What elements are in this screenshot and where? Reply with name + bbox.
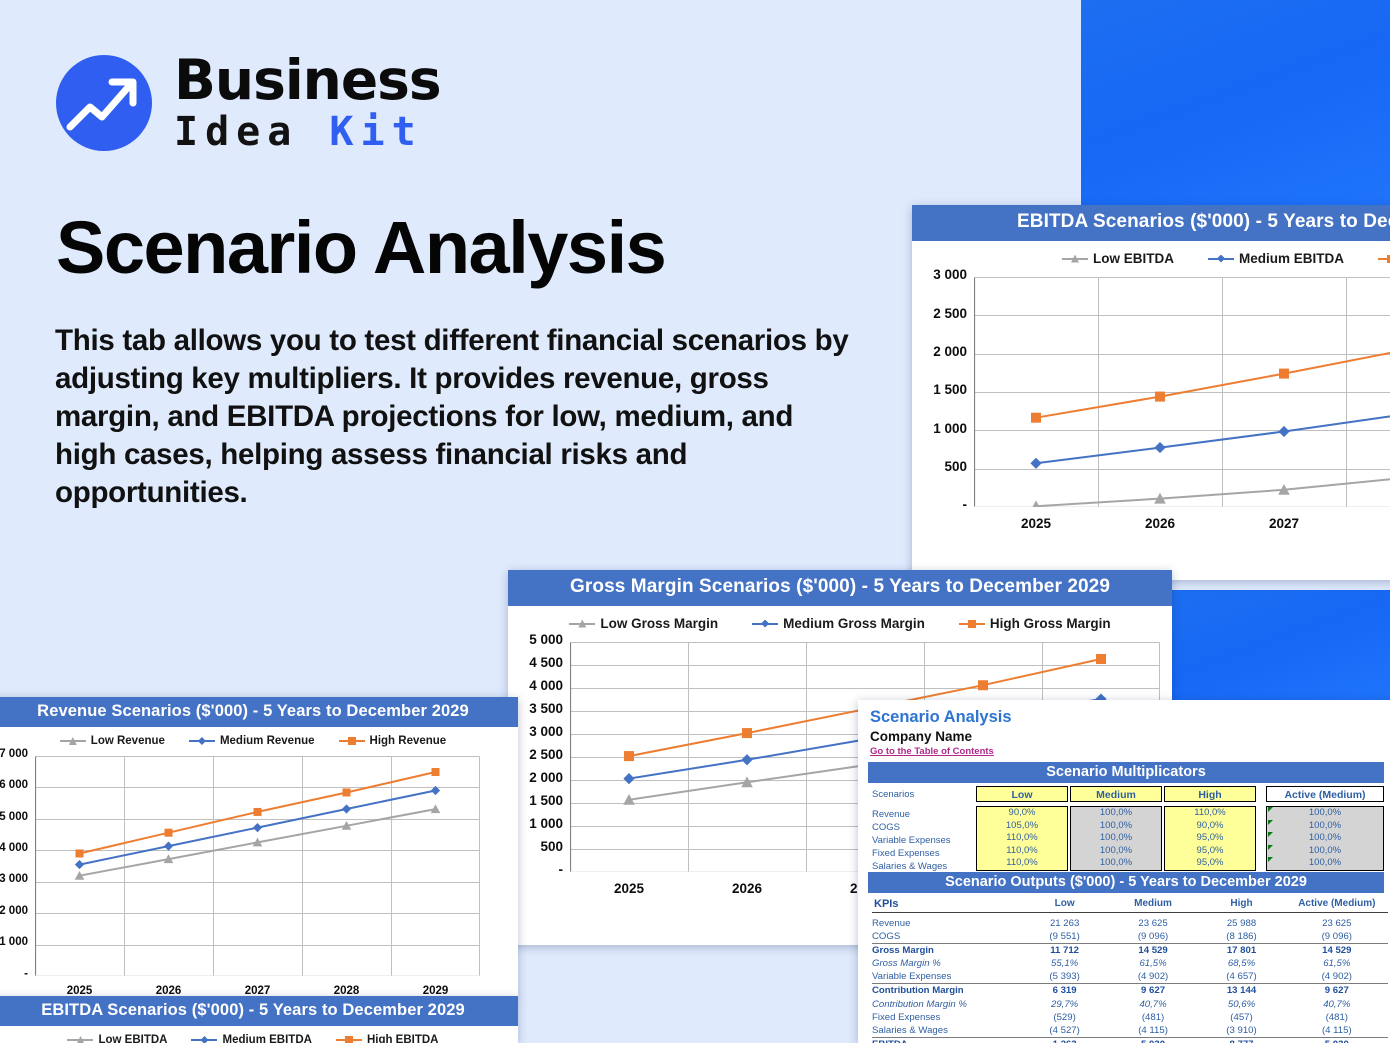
decorative-blue-block-top bbox=[1081, 0, 1390, 205]
outputs-cell: 40,7% bbox=[1109, 998, 1198, 1011]
outputs-table-row: EBITDA1 2635 0308 7775 030 bbox=[872, 1037, 1388, 1043]
legend-label: High Gross Margin bbox=[990, 616, 1111, 631]
x-axis-tick-label: 2027 bbox=[1249, 516, 1319, 531]
outputs-cell: 29,7% bbox=[1021, 998, 1109, 1011]
y-axis-tick-label: 4 000 bbox=[508, 678, 563, 693]
legend-item-medium-gross-margin[interactable]: Medium Gross Margin bbox=[752, 616, 925, 631]
x-axis-tick-label: 2026 bbox=[712, 881, 782, 896]
legend-marker-triangle-icon bbox=[1062, 254, 1088, 264]
outputs-cell: (9 096) bbox=[1109, 930, 1198, 944]
outputs-row-label: COGS bbox=[872, 930, 1021, 944]
outputs-row-label: Contribution Margin % bbox=[872, 998, 1021, 1011]
outputs-cell: (4 902) bbox=[1286, 970, 1388, 984]
outputs-cell: 55,1% bbox=[1021, 957, 1109, 970]
y-axis-tick-label: 2 500 bbox=[912, 306, 967, 321]
y-axis-tick-label: 7 000 bbox=[0, 748, 28, 760]
outputs-column-header: KPIs bbox=[872, 896, 1021, 913]
chart-card-revenue: Revenue Scenarios ($'000) - 5 Years to D… bbox=[0, 697, 518, 997]
legend-item-low-ebitda[interactable]: Low EBITDA bbox=[1062, 251, 1174, 266]
outputs-cell: 13 144 bbox=[1197, 984, 1285, 998]
multiplicator-cell[interactable]: 90,0% bbox=[1165, 820, 1255, 833]
legend-item-medium-revenue[interactable]: Medium Revenue bbox=[189, 735, 315, 747]
legend-label: Low Revenue bbox=[91, 735, 165, 747]
outputs-cell: 14 529 bbox=[1286, 944, 1388, 958]
legend-marker-triangle-icon bbox=[67, 1035, 93, 1043]
scenario-multiplicators-band: Scenario Multiplicators bbox=[868, 762, 1384, 783]
multiplicators-row-label: Variable Expenses bbox=[872, 834, 977, 847]
outputs-cell: (4 902) bbox=[1109, 970, 1198, 984]
column-header-medium: Medium bbox=[1070, 786, 1162, 802]
outputs-table-row: Salaries & Wages(4 527)(4 115)(3 910)(4 … bbox=[872, 1024, 1388, 1038]
legend-label: Medium EBITDA bbox=[1239, 251, 1344, 266]
outputs-table-row: Contribution Margin %29,7%40,7%50,6%40,7… bbox=[872, 998, 1388, 1011]
legend-marker-triangle-icon bbox=[569, 619, 595, 629]
chart-title-ebitda: EBITDA Scenarios ($'000) - 5 Years to De… bbox=[912, 205, 1390, 241]
outputs-cell: 17 801 bbox=[1197, 944, 1285, 958]
y-axis-tick-label: 2 000 bbox=[0, 905, 28, 917]
brand-name-kit: Kit bbox=[329, 109, 422, 155]
y-axis-tick-label: 3 000 bbox=[912, 267, 967, 282]
outputs-cell: 23 625 bbox=[1109, 917, 1198, 930]
legend-marker-square-icon bbox=[1378, 254, 1390, 264]
outputs-cell: 5 030 bbox=[1109, 1037, 1198, 1043]
outputs-cell: 25 988 bbox=[1197, 917, 1285, 930]
outputs-table-row: Variable Expenses(5 393)(4 902)(4 657)(4… bbox=[872, 970, 1388, 984]
outputs-table-row: Contribution Margin6 3199 62713 1449 627 bbox=[872, 984, 1388, 998]
y-axis-tick-label: 500 bbox=[912, 459, 967, 474]
column-header-high: High bbox=[1164, 786, 1256, 802]
column-header-low: Low bbox=[976, 786, 1068, 802]
x-axis-tick-label: 2026 bbox=[1125, 516, 1195, 531]
outputs-cell: (4 115) bbox=[1109, 1024, 1198, 1038]
multiplicator-cell[interactable]: 90,0% bbox=[977, 807, 1067, 820]
legend-item-medium-ebitda-strip[interactable]: Medium EBITDA bbox=[191, 1034, 311, 1043]
legend-marker-square-icon bbox=[336, 1035, 362, 1043]
chart-plot-revenue bbox=[35, 756, 480, 976]
y-axis-tick-label: - bbox=[912, 497, 967, 512]
outputs-row-label: Gross Margin % bbox=[872, 957, 1021, 970]
scenario-outputs-table: KPIsLowMediumHighActive (Medium)Revenue2… bbox=[872, 896, 1388, 1043]
outputs-table-row: Gross Margin11 71214 52917 80114 529 bbox=[872, 944, 1388, 958]
outputs-cell: 9 627 bbox=[1109, 984, 1198, 998]
outputs-cell: 14 529 bbox=[1109, 944, 1198, 958]
multiplicator-cell[interactable]: 110,0% bbox=[977, 845, 1067, 858]
multiplicator-cell[interactable]: 100,0% bbox=[1071, 845, 1161, 858]
outputs-cell: 68,5% bbox=[1197, 957, 1285, 970]
outputs-cell: 5 030 bbox=[1286, 1037, 1388, 1043]
legend-marker-diamond-icon bbox=[191, 1035, 217, 1043]
outputs-cell: (481) bbox=[1109, 1011, 1198, 1024]
outputs-row-label: Gross Margin bbox=[872, 944, 1021, 958]
chart-title-revenue: Revenue Scenarios ($'000) - 5 Years to D… bbox=[0, 697, 518, 727]
chart-title-ebitda-strip: EBITDA Scenarios ($'000) - 5 Years to De… bbox=[0, 996, 518, 1026]
brand-name-idea: Idea bbox=[174, 109, 298, 155]
multiplicators-column-active: Active (Medium) 100,0% 100,0% 100,0% 100… bbox=[1266, 786, 1384, 871]
legend-item-low-ebitda-strip[interactable]: Low EBITDA bbox=[67, 1034, 167, 1043]
multiplicator-cell[interactable]: 100,0% bbox=[1071, 832, 1161, 845]
outputs-cell: (8 186) bbox=[1197, 930, 1285, 944]
outputs-cell: (457) bbox=[1197, 1011, 1285, 1024]
outputs-cell: (9 551) bbox=[1021, 930, 1109, 944]
legend-label: Low Gross Margin bbox=[600, 616, 718, 631]
y-axis-tick-label: 1 000 bbox=[0, 936, 28, 948]
legend-item-medium-ebitda[interactable]: Medium EBITDA bbox=[1208, 251, 1344, 266]
outputs-row-label: Contribution Margin bbox=[872, 984, 1021, 998]
outputs-cell: 21 263 bbox=[1021, 917, 1109, 930]
multiplicators-row-label: COGS bbox=[872, 821, 977, 834]
outputs-column-header: Low bbox=[1021, 896, 1109, 913]
legend-marker-square-icon bbox=[339, 736, 365, 746]
y-axis-tick-label: 1 000 bbox=[912, 421, 967, 436]
multiplicator-cell[interactable]: 95,0% bbox=[1165, 832, 1255, 845]
chart-card-ebitda: EBITDA Scenarios ($'000) - 5 Years to De… bbox=[912, 205, 1390, 580]
outputs-cell: 40,7% bbox=[1286, 998, 1388, 1011]
table-of-contents-link[interactable]: Go to the Table of Contents bbox=[870, 746, 994, 757]
chart-legend-ebitda: Low EBITDA Medium EBITDA High EBITDA bbox=[912, 251, 1390, 266]
outputs-cell: 1 263 bbox=[1021, 1037, 1109, 1043]
chart-card-ebitda-strip: EBITDA Scenarios ($'000) - 5 Years to De… bbox=[0, 996, 518, 1043]
legend-label: Low EBITDA bbox=[98, 1034, 167, 1043]
outputs-cell: (481) bbox=[1286, 1011, 1388, 1024]
chart-legend-revenue: Low Revenue Medium Revenue High Revenue bbox=[0, 735, 518, 747]
outputs-cell: (4 657) bbox=[1197, 970, 1285, 984]
legend-item-high-revenue[interactable]: High Revenue bbox=[339, 735, 447, 747]
outputs-table-row: Fixed Expenses(529)(481)(457)(481) bbox=[872, 1011, 1388, 1024]
multiplicators-column-high: High 110,0% 90,0% 95,0% 95,0% 95,0% bbox=[1164, 786, 1256, 871]
outputs-cell: 50,6% bbox=[1197, 998, 1285, 1011]
outputs-row-label: Salaries & Wages bbox=[872, 1024, 1021, 1038]
outputs-row-label: Fixed Expenses bbox=[872, 1011, 1021, 1024]
outputs-table-row: COGS(9 551)(9 096)(8 186)(9 096) bbox=[872, 930, 1388, 944]
multiplicators-row-labels: Scenarios Revenue COGS Variable Expenses… bbox=[872, 786, 977, 873]
legend-marker-triangle-icon bbox=[60, 736, 86, 746]
active-multiplicator-cell: 100,0% bbox=[1267, 832, 1383, 845]
y-axis-tick-label: 5 000 bbox=[0, 811, 28, 823]
outputs-row-label: EBITDA bbox=[872, 1037, 1021, 1043]
y-axis-tick-label: 4 000 bbox=[0, 842, 28, 854]
chart-plot-ebitda bbox=[974, 277, 1390, 507]
outputs-cell: (5 393) bbox=[1021, 970, 1109, 984]
outputs-column-header: Medium bbox=[1109, 896, 1198, 913]
scenario-analysis-panel: Scenario Analysis Company Name Go to the… bbox=[858, 700, 1390, 1043]
outputs-cell: 11 712 bbox=[1021, 944, 1109, 958]
multiplicators-row-header: Scenarios bbox=[872, 786, 977, 803]
legend-marker-diamond-icon bbox=[752, 619, 778, 629]
x-axis-tick-label: 2025 bbox=[1001, 516, 1071, 531]
active-multiplicator-cell: 100,0% bbox=[1267, 845, 1383, 858]
outputs-cell: (3 910) bbox=[1197, 1024, 1285, 1038]
multiplicator-cell[interactable]: 100,0% bbox=[1071, 807, 1161, 820]
legend-item-high-ebitda[interactable]: High EBITDA bbox=[1378, 251, 1390, 266]
outputs-row-label: Variable Expenses bbox=[872, 970, 1021, 984]
growth-arrow-icon bbox=[56, 55, 152, 151]
legend-item-high-gross-margin[interactable]: High Gross Margin bbox=[959, 616, 1111, 631]
multiplicators-row-label: Revenue bbox=[872, 808, 977, 821]
active-multiplicator-cell: 100,0% bbox=[1267, 807, 1383, 820]
y-axis-tick-label: 3 000 bbox=[0, 873, 28, 885]
outputs-cell: 8 777 bbox=[1197, 1037, 1285, 1043]
brand-name-line1: Business bbox=[174, 53, 441, 108]
outputs-cell: 9 627 bbox=[1286, 984, 1388, 998]
outputs-cell: (4 115) bbox=[1286, 1024, 1388, 1038]
column-header-active: Active (Medium) bbox=[1266, 786, 1384, 802]
legend-marker-square-icon bbox=[959, 619, 985, 629]
outputs-cell: 23 625 bbox=[1286, 917, 1388, 930]
chart-title-gross-margin: Gross Margin Scenarios ($'000) - 5 Years… bbox=[508, 570, 1172, 606]
multiplicator-cell[interactable]: 100,0% bbox=[1071, 857, 1161, 870]
decorative-blue-block-middle bbox=[1170, 590, 1390, 700]
outputs-column-header: Active (Medium) bbox=[1286, 896, 1388, 913]
y-axis-tick-label: 4 500 bbox=[508, 655, 563, 670]
multiplicators-row-label: Fixed Expenses bbox=[872, 847, 977, 860]
active-multiplicator-cell: 100,0% bbox=[1267, 857, 1383, 870]
multiplicator-cell[interactable]: 105,0% bbox=[977, 820, 1067, 833]
chart-legend-gross-margin: Low Gross Margin Medium Gross Margin Hig… bbox=[508, 616, 1172, 631]
legend-marker-diamond-icon bbox=[189, 736, 215, 746]
legend-label: Medium Revenue bbox=[220, 735, 315, 747]
scenario-panel-company-name: Company Name bbox=[870, 729, 972, 744]
outputs-cell: 6 319 bbox=[1021, 984, 1109, 998]
outputs-cell: (9 096) bbox=[1286, 930, 1388, 944]
outputs-table-row: Gross Margin %55,1%61,5%68,5%61,5% bbox=[872, 957, 1388, 970]
outputs-cell: (529) bbox=[1021, 1011, 1109, 1024]
y-axis-tick-label: 6 000 bbox=[0, 779, 28, 791]
legend-marker-diamond-icon bbox=[1208, 254, 1234, 264]
multiplicator-cell[interactable]: 110,0% bbox=[977, 832, 1067, 845]
scenario-outputs-band: Scenario Outputs ($'000) - 5 Years to De… bbox=[868, 872, 1384, 893]
outputs-column-header: High bbox=[1197, 896, 1285, 913]
legend-label: Low EBITDA bbox=[1093, 251, 1174, 266]
multiplicator-cell[interactable]: 95,0% bbox=[1165, 857, 1255, 870]
outputs-cell: 61,5% bbox=[1109, 957, 1198, 970]
x-axis-tick-label: 2025 bbox=[594, 881, 664, 896]
legend-label: Medium Gross Margin bbox=[783, 616, 925, 631]
y-axis-tick-label: 5 000 bbox=[508, 632, 563, 647]
chart-legend-ebitda-strip: Low EBITDA Medium EBITDA High EBITDA bbox=[0, 1034, 518, 1043]
legend-label: Medium EBITDA bbox=[222, 1034, 311, 1043]
outputs-cell: 61,5% bbox=[1286, 957, 1388, 970]
scenario-panel-title: Scenario Analysis bbox=[870, 708, 1012, 727]
outputs-row-label: Revenue bbox=[872, 917, 1021, 930]
y-axis-tick-label: 2 000 bbox=[912, 344, 967, 359]
multiplicator-cell[interactable]: 110,0% bbox=[1165, 807, 1255, 820]
legend-label: High Revenue bbox=[370, 735, 447, 747]
page-title: Scenario Analysis bbox=[56, 205, 665, 290]
multiplicator-cell[interactable]: 100,0% bbox=[1071, 820, 1161, 833]
legend-item-high-ebitda-strip[interactable]: High EBITDA bbox=[336, 1034, 439, 1043]
outputs-table-row: Revenue21 26323 62525 98823 625 bbox=[872, 917, 1388, 930]
brand-logo: Business Idea Kit bbox=[56, 53, 441, 152]
legend-label: High EBITDA bbox=[367, 1034, 439, 1043]
page-description: This tab allows you to test different fi… bbox=[55, 322, 855, 512]
outputs-cell: (4 527) bbox=[1021, 1024, 1109, 1038]
active-multiplicator-cell: 100,0% bbox=[1267, 820, 1383, 833]
x-axis-tick-label: 2028 bbox=[1373, 516, 1390, 531]
multiplicator-cell[interactable]: 95,0% bbox=[1165, 845, 1255, 858]
y-axis-tick-label: - bbox=[0, 968, 28, 980]
y-axis-tick-label: 1 500 bbox=[912, 382, 967, 397]
legend-item-low-gross-margin[interactable]: Low Gross Margin bbox=[569, 616, 718, 631]
legend-item-low-revenue[interactable]: Low Revenue bbox=[60, 735, 165, 747]
multiplicators-column-low: Low 90,0% 105,0% 110,0% 110,0% 110,0% bbox=[976, 786, 1068, 871]
multiplicators-column-medium: Medium 100,0% 100,0% 100,0% 100,0% 100,0… bbox=[1070, 786, 1162, 871]
multiplicator-cell[interactable]: 110,0% bbox=[977, 857, 1067, 870]
